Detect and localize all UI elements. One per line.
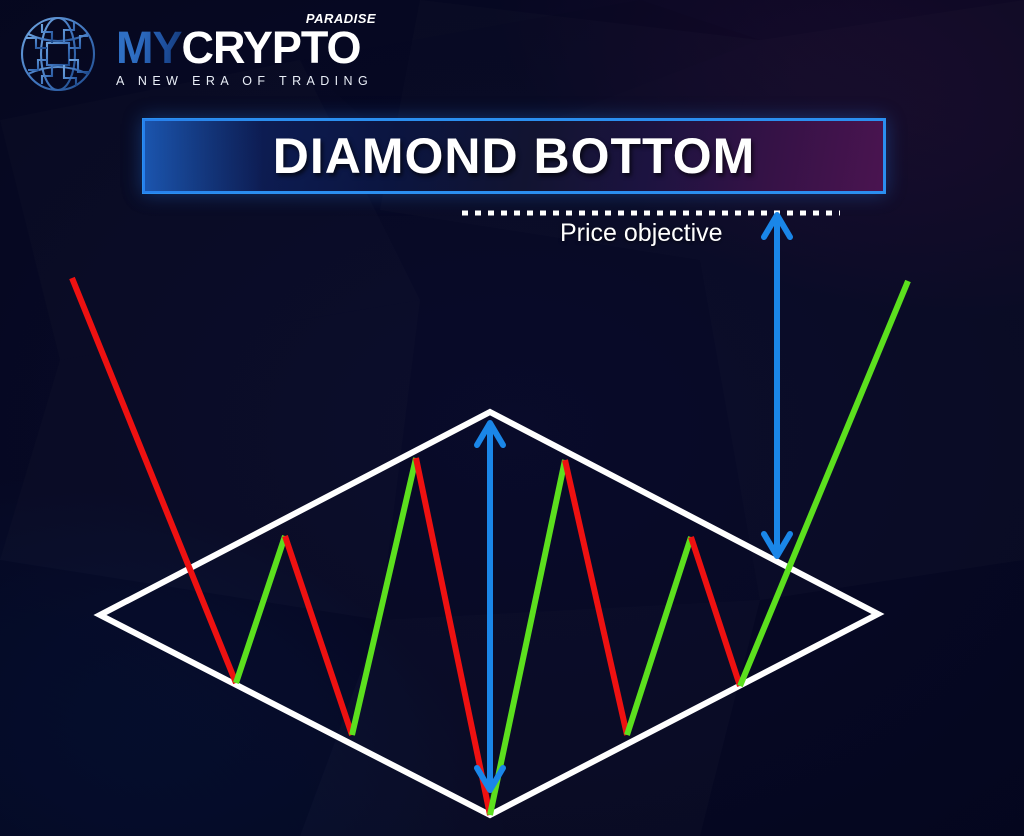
pattern-chart xyxy=(0,0,1024,836)
zigzag-leg xyxy=(627,537,691,735)
price-objective-arrow xyxy=(764,215,790,556)
zigzag-leg xyxy=(352,458,416,735)
price-objective-label: Price objective xyxy=(560,219,723,248)
zigzag-leg xyxy=(285,536,352,735)
measure-arrows-group xyxy=(477,215,790,790)
zigzag-leg xyxy=(236,536,285,683)
zigzag-leg xyxy=(691,537,740,686)
zigzag-leg xyxy=(416,458,490,815)
pattern-height-arrow xyxy=(477,423,503,790)
zigzag-leg xyxy=(565,460,627,735)
zigzag-leg xyxy=(490,460,565,815)
infographic-canvas: MYCRYPTO PARADISE A NEW ERA OF TRADING D… xyxy=(0,0,1024,836)
downtrend-approach-line xyxy=(72,278,236,683)
uptrend-breakout-line xyxy=(740,281,908,686)
